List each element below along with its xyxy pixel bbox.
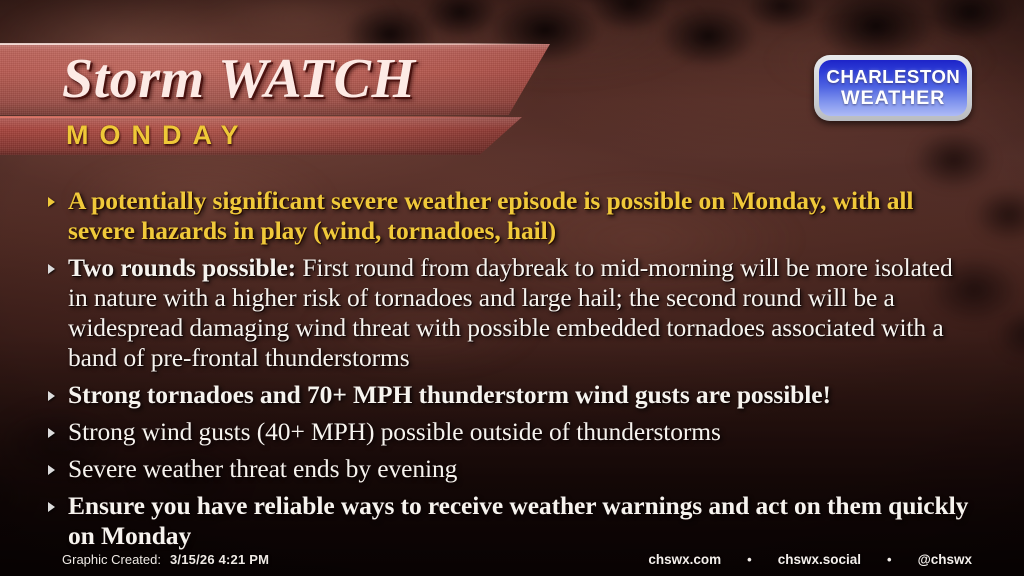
header-banner: Storm WATCH MONDAY <box>0 0 620 170</box>
footer-separator-dot: • <box>747 552 752 567</box>
bullet-text: Two rounds possible: First round from da… <box>68 253 978 373</box>
logo-line-charleston: CHARLESTON <box>826 67 960 88</box>
list-item: Two rounds possible: First round from da… <box>48 253 978 373</box>
forecast-bullet-list: A potentially significant severe weather… <box>48 186 978 558</box>
footer-link-handle[interactable]: @chswx <box>918 552 972 567</box>
triangle-right-icon <box>48 264 64 274</box>
banner-day-label: MONDAY <box>66 117 250 155</box>
footer-link-social[interactable]: chswx.social <box>778 552 861 567</box>
logo-line-weather: WEATHER <box>841 88 945 110</box>
footer-link-website[interactable]: chswx.com <box>648 552 721 567</box>
footer-separator-dot: • <box>887 552 892 567</box>
list-item: Strong wind gusts (40+ MPH) possible out… <box>48 417 978 447</box>
bullet-text: Strong tornadoes and 70+ MPH thunderstor… <box>68 380 978 410</box>
graphic-created-timestamp: 3/15/26 4:21 PM <box>170 552 269 567</box>
list-item: Strong tornadoes and 70+ MPH thunderstor… <box>48 380 978 410</box>
charleston-weather-logo: CHARLESTON WEATHER <box>814 55 972 121</box>
banner-title-storm: Storm <box>62 48 205 110</box>
bullet-text: A potentially significant severe weather… <box>68 186 978 246</box>
footer-links: chswx.com • chswx.social • @chswx <box>648 552 972 567</box>
triangle-right-icon <box>48 391 64 401</box>
graphic-created-label: Graphic Created: <box>62 552 161 567</box>
banner-title: Storm WATCH <box>62 44 416 115</box>
triangle-right-icon <box>48 197 64 207</box>
triangle-right-icon <box>48 428 64 438</box>
triangle-right-icon <box>48 502 64 512</box>
logo-inner-panel: CHARLESTON WEATHER <box>819 60 967 116</box>
banner-title-watch: WATCH <box>218 48 416 110</box>
bullet-text: Strong wind gusts (40+ MPH) possible out… <box>68 417 978 447</box>
weather-graphic-slide: Storm WATCH MONDAY CHARLESTON WEATHER A … <box>0 0 1024 576</box>
list-item: A potentially significant severe weather… <box>48 186 978 246</box>
footer-bar: Graphic Created:3/15/26 4:21 PM chswx.co… <box>0 542 1024 576</box>
bullet-text: Severe weather threat ends by evening <box>68 454 978 484</box>
graphic-created-block: Graphic Created:3/15/26 4:21 PM <box>62 552 269 567</box>
triangle-right-icon <box>48 465 64 475</box>
list-item: Severe weather threat ends by evening <box>48 454 978 484</box>
bullet-lead: Two rounds possible: <box>68 253 296 282</box>
